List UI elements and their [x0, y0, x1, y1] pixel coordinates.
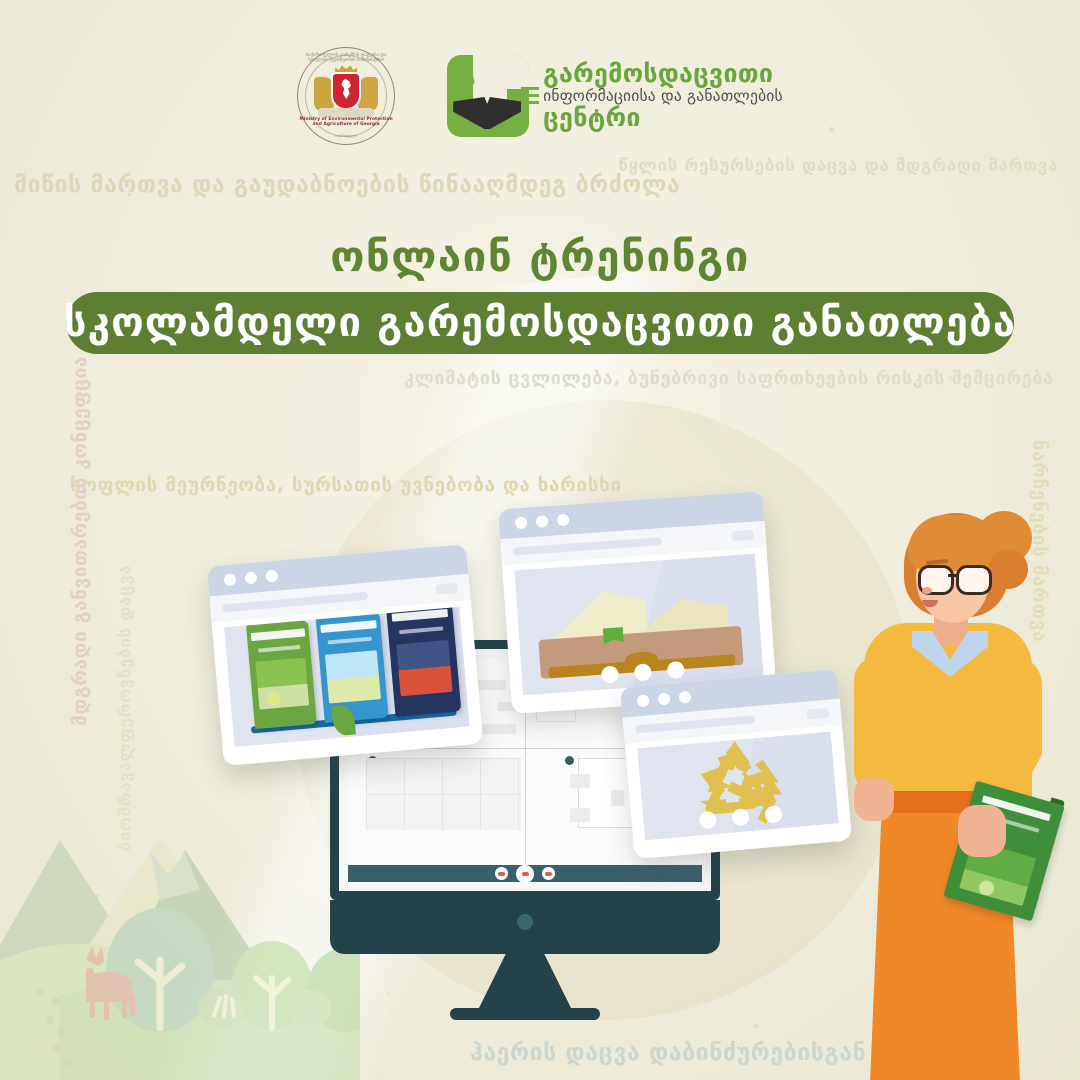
window-content — [514, 554, 763, 696]
books-window[interactable] — [207, 544, 483, 766]
maximize-icon — [265, 570, 278, 583]
maximize-icon — [678, 691, 691, 704]
minimize-icon — [244, 571, 257, 584]
nose — [922, 587, 932, 594]
watermark-air: ჰაერის დაცვა დაბინძურებისგან — [470, 1040, 866, 1066]
maximize-icon — [557, 514, 570, 527]
recycle-window[interactable] — [620, 669, 852, 859]
textbook-card-3 — [386, 607, 462, 717]
window-content — [637, 732, 838, 841]
close-icon — [515, 517, 528, 530]
headline-banner: სკოლამდელი გარემოსდაცვითი განათლება — [66, 292, 1014, 354]
hair-bun-shadow — [988, 549, 1028, 589]
forest-scenery — [0, 780, 360, 1080]
logo-line-1: გარემოსდაცვითი — [543, 61, 783, 87]
window-content — [224, 607, 470, 747]
minimize-icon — [536, 515, 549, 528]
watermark-agriculture: სოფლის მეურნეობა, სურსათის უვნებობა და ხ… — [70, 474, 622, 496]
right-hand — [958, 805, 1006, 857]
watermark-sustainable: მდგრადი განვითარების კონცეფცია — [69, 356, 91, 726]
camera-button[interactable] — [542, 867, 555, 880]
glasses-icon — [918, 565, 992, 589]
watermark-water: წყლის რესურსების დაცვა და მდგრადი მართვა — [618, 156, 1058, 176]
video-call-toolbar[interactable] — [348, 865, 702, 882]
monitor-led-icon — [517, 914, 533, 930]
minimize-icon — [658, 693, 671, 706]
open-book-icon — [535, 572, 743, 678]
emblem-subcaption: საქართველო — [297, 134, 395, 138]
emblem-caption-en: Ministry of Environmental Protection and… — [297, 117, 395, 128]
teacher-character — [830, 505, 1080, 1080]
textbook-card-2 — [316, 612, 389, 723]
page-title: სკოლამდელი გარემოსდაცვითი განათლება — [64, 300, 1017, 346]
forest-svg — [0, 780, 360, 1080]
logo-line-3: ცენტრი — [543, 105, 783, 131]
centre-logo: გარემოსდაცვითი ინფორმაციისა და განათლები… — [447, 55, 783, 137]
ministry-emblem-icon: საქართველოს გარემოს დაცვისა და სოფლის მე… — [297, 47, 395, 145]
watermark-land: მიწის მართვა და გაუდაბნოების წინააღმდეგ … — [14, 172, 680, 198]
mic-button[interactable] — [495, 867, 508, 880]
monitor-foot — [450, 1008, 600, 1020]
eyebrow-title: ონლაინ ტრენინგი — [0, 232, 1080, 281]
centre-logo-icon — [447, 55, 529, 137]
hangup-button[interactable] — [516, 865, 534, 883]
close-icon — [637, 694, 650, 707]
left-hand — [854, 777, 894, 821]
emblem-arc-text: საქართველოს გარემოს დაცვისა და სოფლის მე… — [297, 53, 395, 63]
logo-line-2: ინფორმაციისა და განათლების — [543, 89, 783, 105]
textbook-card-1 — [246, 620, 317, 729]
close-icon — [224, 573, 237, 586]
watermark-biodiversity: ბიომრავალფეროვნების დაცვა — [115, 565, 135, 852]
centre-logo-text: გარემოსდაცვითი ინფორმაციისა და განათლები… — [543, 61, 783, 131]
poster-canvas: საქართველოს გარემოს დაცვისა და სოფლის მე… — [0, 0, 1080, 1080]
watermark-climate: კლიმატის ცვლილება, ბუნებრივი საფრთხეების… — [404, 368, 1054, 389]
header-logos: საქართველოს გარემოს დაცვისა და სოფლის მე… — [0, 46, 1080, 146]
